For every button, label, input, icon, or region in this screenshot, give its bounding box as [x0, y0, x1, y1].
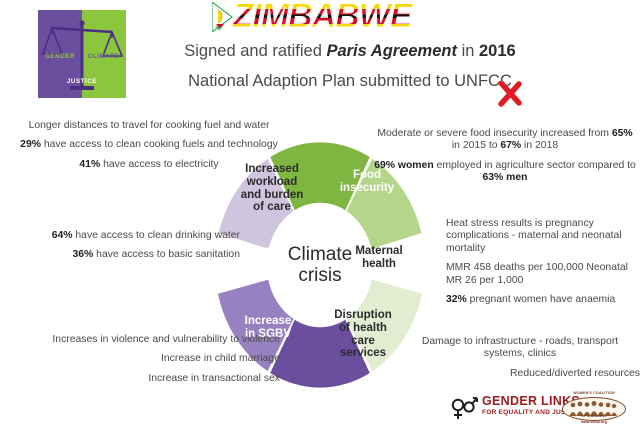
facts-maternal: Heat stress results is pregnancy complic… [446, 218, 640, 313]
fact-line: 41% have access to electricity [4, 159, 294, 171]
gender-symbols-icon [450, 395, 478, 421]
fact-line: Increases in violence and vulnerability … [2, 334, 280, 346]
fact-line: MMR 458 deaths per 100,000 Neonatal MR 2… [446, 262, 640, 287]
fact-line: Longer distances to travel for cooking f… [4, 120, 294, 132]
segment-label-maternal: Maternalhealth [342, 245, 416, 271]
paris-pre: Signed and ratified [184, 42, 326, 60]
facts-sgbv: Increases in violence and vulnerability … [2, 334, 280, 392]
logo-justice-label: JUSTICE [67, 78, 97, 85]
logo-gender-label: GENDER [45, 53, 75, 60]
fact-line: Moderate or severe food insecurity incre… [372, 128, 638, 153]
nap-line: National Adaption Plan submitted to UNFC… [150, 72, 550, 91]
paris-year: 2016 [479, 42, 516, 60]
fact-line: 64% have access to clean drinking water [4, 230, 240, 242]
paris-mid: in [457, 42, 479, 60]
zimbabwe-flag-triangle-icon [212, 2, 234, 32]
fact-line: 69% women employed in agriculture sector… [372, 160, 638, 185]
facts-workload: Longer distances to travel for cooking f… [4, 120, 294, 178]
fact-line: Damage to infrastructure - roads, transp… [400, 336, 640, 361]
coalition-top-text: WOMEN'S COALITION [558, 391, 630, 395]
x-mark-icon [497, 81, 523, 107]
fact-line: 36% have access to basic sanitation [4, 249, 240, 261]
footer-logos: GENDER LINKS FOR EQUALITY AND JUSTICE WO… [434, 392, 634, 426]
fact-line: Reduced/diverted resources [400, 368, 640, 380]
coalition-bottom-text: OF ZIMBABWE [558, 414, 630, 418]
gender-climate-justice-logo: GENDER CLIMATE JUSTICE [38, 10, 126, 98]
coalition-url: www.wcoz.org [558, 420, 630, 424]
infographic-page: GENDER CLIMATE JUSTICE ZIMBABWE Signed a… [0, 0, 640, 427]
fact-line: Increase in child marriage [2, 353, 280, 365]
facts-disruption: Damage to infrastructure - roads, transp… [400, 336, 640, 387]
womens-coalition-logo: WOMEN'S COALITION OF ZIMBABWE www.wcoz.o… [558, 392, 630, 426]
header-statements: Signed and ratified Paris Agreement in 2… [150, 42, 550, 102]
fact-line: Increase in transactional sex [2, 373, 280, 385]
segment-label-disruption: Disruptionof healthcareservices [326, 309, 400, 360]
fact-line: 29% have access to clean cooking fuels a… [4, 139, 294, 151]
country-title: ZIMBABWE [208, 0, 436, 34]
fact-line: Heat stress results is pregnancy complic… [446, 218, 640, 255]
logo-climate-label: CLIMATE [88, 53, 119, 60]
facts-food: Moderate or severe food insecurity incre… [372, 128, 638, 192]
paris-agreement-line: Signed and ratified Paris Agreement in 2… [150, 42, 550, 61]
fact-line: 32% pregnant women have anaemia [446, 294, 640, 306]
facts-water: 64% have access to clean drinking water3… [4, 230, 240, 269]
paris-agreement-em: Paris Agreement [326, 42, 457, 60]
